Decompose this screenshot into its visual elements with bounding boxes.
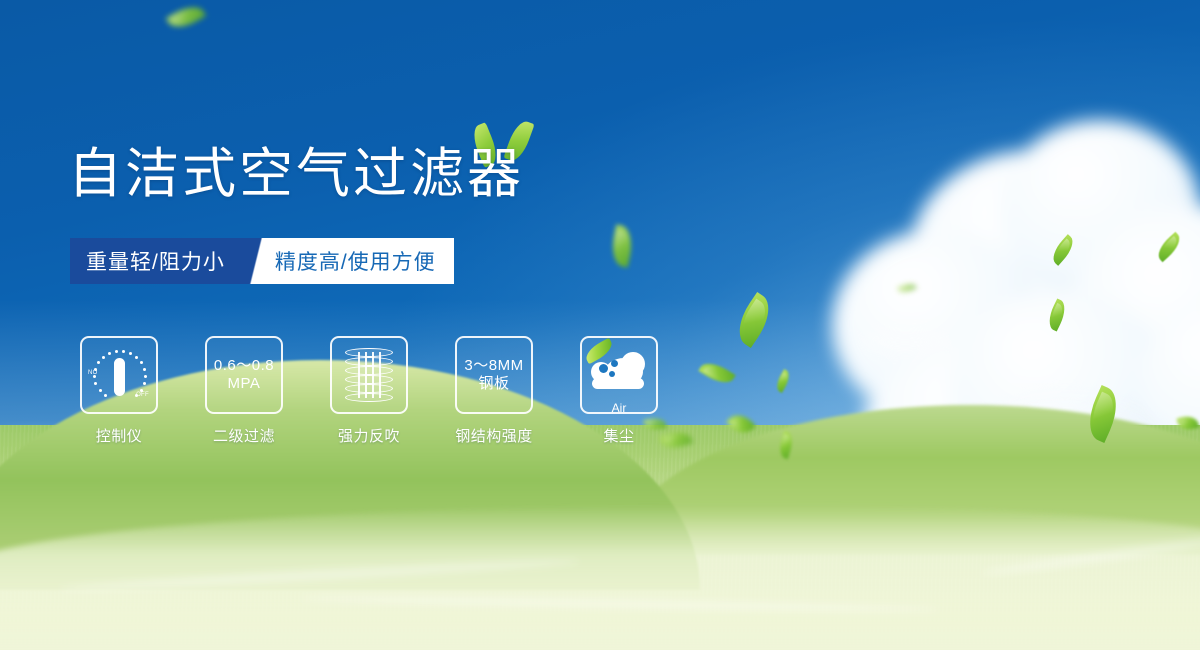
gauge-min-label: NO <box>88 370 98 376</box>
gauge-icon: NO OFF <box>88 346 150 404</box>
feature-list: NO OFF 控制仪 0.6〜0.8 MPA 二级过滤 <box>80 336 658 446</box>
filter-stack-icon <box>345 348 393 402</box>
subtitle-right: 精度高/使用方便 <box>269 238 454 284</box>
feature-item-filtration[interactable]: 0.6〜0.8 MPA 二级过滤 <box>205 336 283 446</box>
page-title: 自洁式空气过滤器 <box>68 146 524 203</box>
feature-item-backblow[interactable]: 强力反吹 <box>330 336 408 446</box>
feature-label: 钢结构强度 <box>455 425 533 446</box>
air-leaf-icon <box>582 338 615 364</box>
feature-icon-box: 0.6〜0.8 MPA <box>205 336 283 414</box>
feature-label: 二级过滤 <box>213 425 275 446</box>
feature-text-line2: MPA <box>228 375 261 393</box>
hero-banner: 自洁式空气过滤器 重量轻/阻力小 精度高/使用方便 <box>0 0 1200 650</box>
wisp-cloud-3 <box>860 330 950 354</box>
feature-text-line1: 0.6〜0.8 <box>214 357 274 375</box>
feature-icon-box: 3〜8MM 钢板 <box>455 336 533 414</box>
subtitle-divider <box>243 238 269 284</box>
feature-item-steel[interactable]: 3〜8MM 钢板 钢结构强度 <box>455 336 533 446</box>
air-caption: Air <box>587 401 651 414</box>
gauge-max-label: OFF <box>136 392 149 398</box>
feature-label: 集尘 <box>603 425 634 446</box>
feature-text-line1: 3〜8MM <box>464 357 523 375</box>
air-cloud-icon: Air <box>587 348 651 402</box>
feature-item-controller[interactable]: NO OFF 控制仪 <box>80 336 158 446</box>
feature-label: 控制仪 <box>96 425 143 446</box>
subtitle-bar: 重量轻/阻力小 精度高/使用方便 <box>70 238 454 284</box>
gauge-needle <box>114 358 125 396</box>
feature-icon-box <box>330 336 408 414</box>
feature-item-dustcollect[interactable]: Air 集尘 <box>580 336 658 446</box>
feature-label: 强力反吹 <box>338 425 400 446</box>
feature-icon-box: Air <box>580 336 658 414</box>
subtitle-left: 重量轻/阻力小 <box>70 238 243 284</box>
feature-text-line2: 钢板 <box>478 375 509 393</box>
feature-icon-box: NO OFF <box>80 336 158 414</box>
